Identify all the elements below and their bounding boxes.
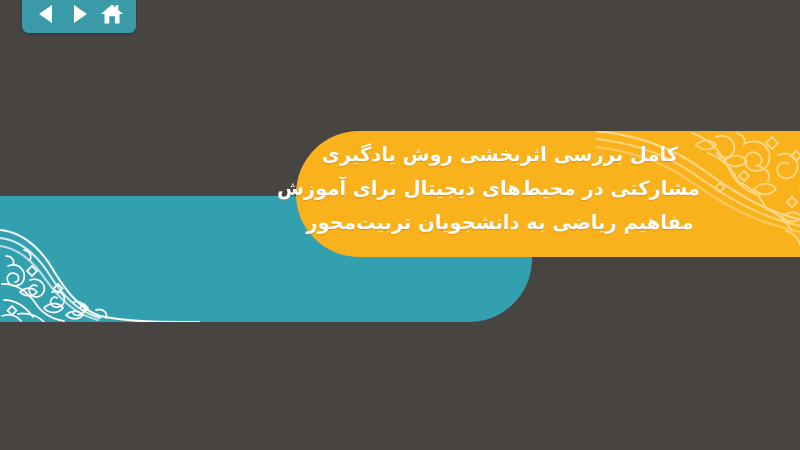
orange-title-panel xyxy=(296,131,800,257)
home-button[interactable] xyxy=(98,1,126,27)
navigation-bar xyxy=(22,0,136,33)
forward-arrow-icon xyxy=(69,3,89,25)
slide-canvas: کامل بررسی اثربخشی روش یادگیری مشارکتی د… xyxy=(0,0,800,450)
forward-button[interactable] xyxy=(65,1,93,27)
arabesque-ornament-right xyxy=(596,131,800,257)
home-icon xyxy=(100,3,124,26)
back-arrow-icon xyxy=(36,3,56,25)
back-button[interactable] xyxy=(32,1,60,27)
